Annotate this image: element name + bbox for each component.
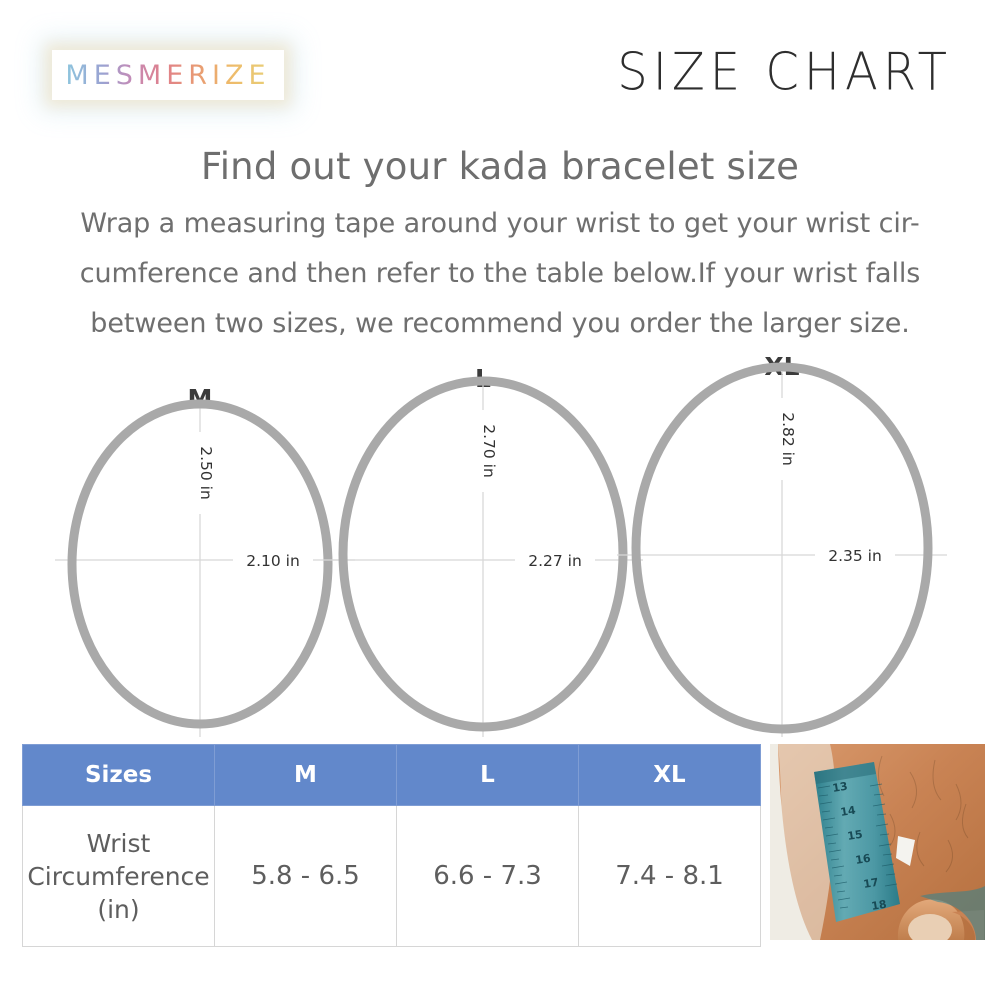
cell-wrist-l: 6.6 - 7.3	[397, 806, 579, 947]
ring-diagram-m: 2.50 in 2.10 in	[55, 352, 355, 737]
row-label-wrist-circumference: WristCircumference(in)	[23, 806, 215, 947]
brand-name: MESMERIZE	[65, 60, 270, 91]
intro-line-2: cumference and then refer to the table b…	[80, 258, 920, 289]
section-heading: Find out your kada bracelet size	[0, 145, 1000, 188]
table-header-row: Sizes M L XL	[23, 745, 761, 806]
svg-text:14: 14	[839, 804, 856, 819]
svg-text:18: 18	[870, 898, 887, 913]
ring-width-label-l: 2.27 in	[528, 552, 582, 570]
ring-diagram-l: 2.70 in 2.27 in	[323, 352, 643, 737]
ring-width-label-m: 2.10 in	[246, 552, 300, 570]
svg-text:13: 13	[831, 780, 848, 795]
table-row: WristCircumference(in) 5.8 - 6.5 6.6 - 7…	[23, 806, 761, 947]
svg-text:17: 17	[862, 876, 879, 891]
ring-height-label-m: 2.50 in	[197, 446, 215, 500]
svg-text:16: 16	[854, 852, 871, 867]
ring-height-label-l: 2.70 in	[480, 424, 498, 478]
brand-logo: MESMERIZE	[52, 50, 284, 100]
ring-diagram-xl: 2.82 in 2.35 in	[617, 352, 947, 737]
intro-paragraph: Wrap a measuring tape around your wrist …	[50, 199, 950, 349]
ring-diagrams: M 2.50 in 2.10 in L 2.70 in 2.27 in XL 2…	[0, 352, 1000, 737]
intro-line-1: Wrap a measuring tape around your wrist …	[80, 208, 919, 239]
svg-text:15: 15	[846, 828, 863, 843]
wrist-measurement-photo: 13 14 15 16 17 18	[770, 744, 985, 940]
table-header-l: L	[397, 745, 579, 806]
ring-height-label-xl: 2.82 in	[779, 412, 797, 466]
table-header-m: M	[215, 745, 397, 806]
ring-width-label-xl: 2.35 in	[828, 547, 882, 565]
cell-wrist-xl: 7.4 - 8.1	[579, 806, 761, 947]
page-title: SIZE CHART	[617, 42, 952, 102]
intro-line-3: between two sizes, we recommend you orde…	[90, 308, 909, 339]
table-header-xl: XL	[579, 745, 761, 806]
cell-wrist-m: 5.8 - 6.5	[215, 806, 397, 947]
table-header-sizes: Sizes	[23, 745, 215, 806]
size-table: Sizes M L XL WristCircumference(in) 5.8 …	[22, 744, 761, 947]
